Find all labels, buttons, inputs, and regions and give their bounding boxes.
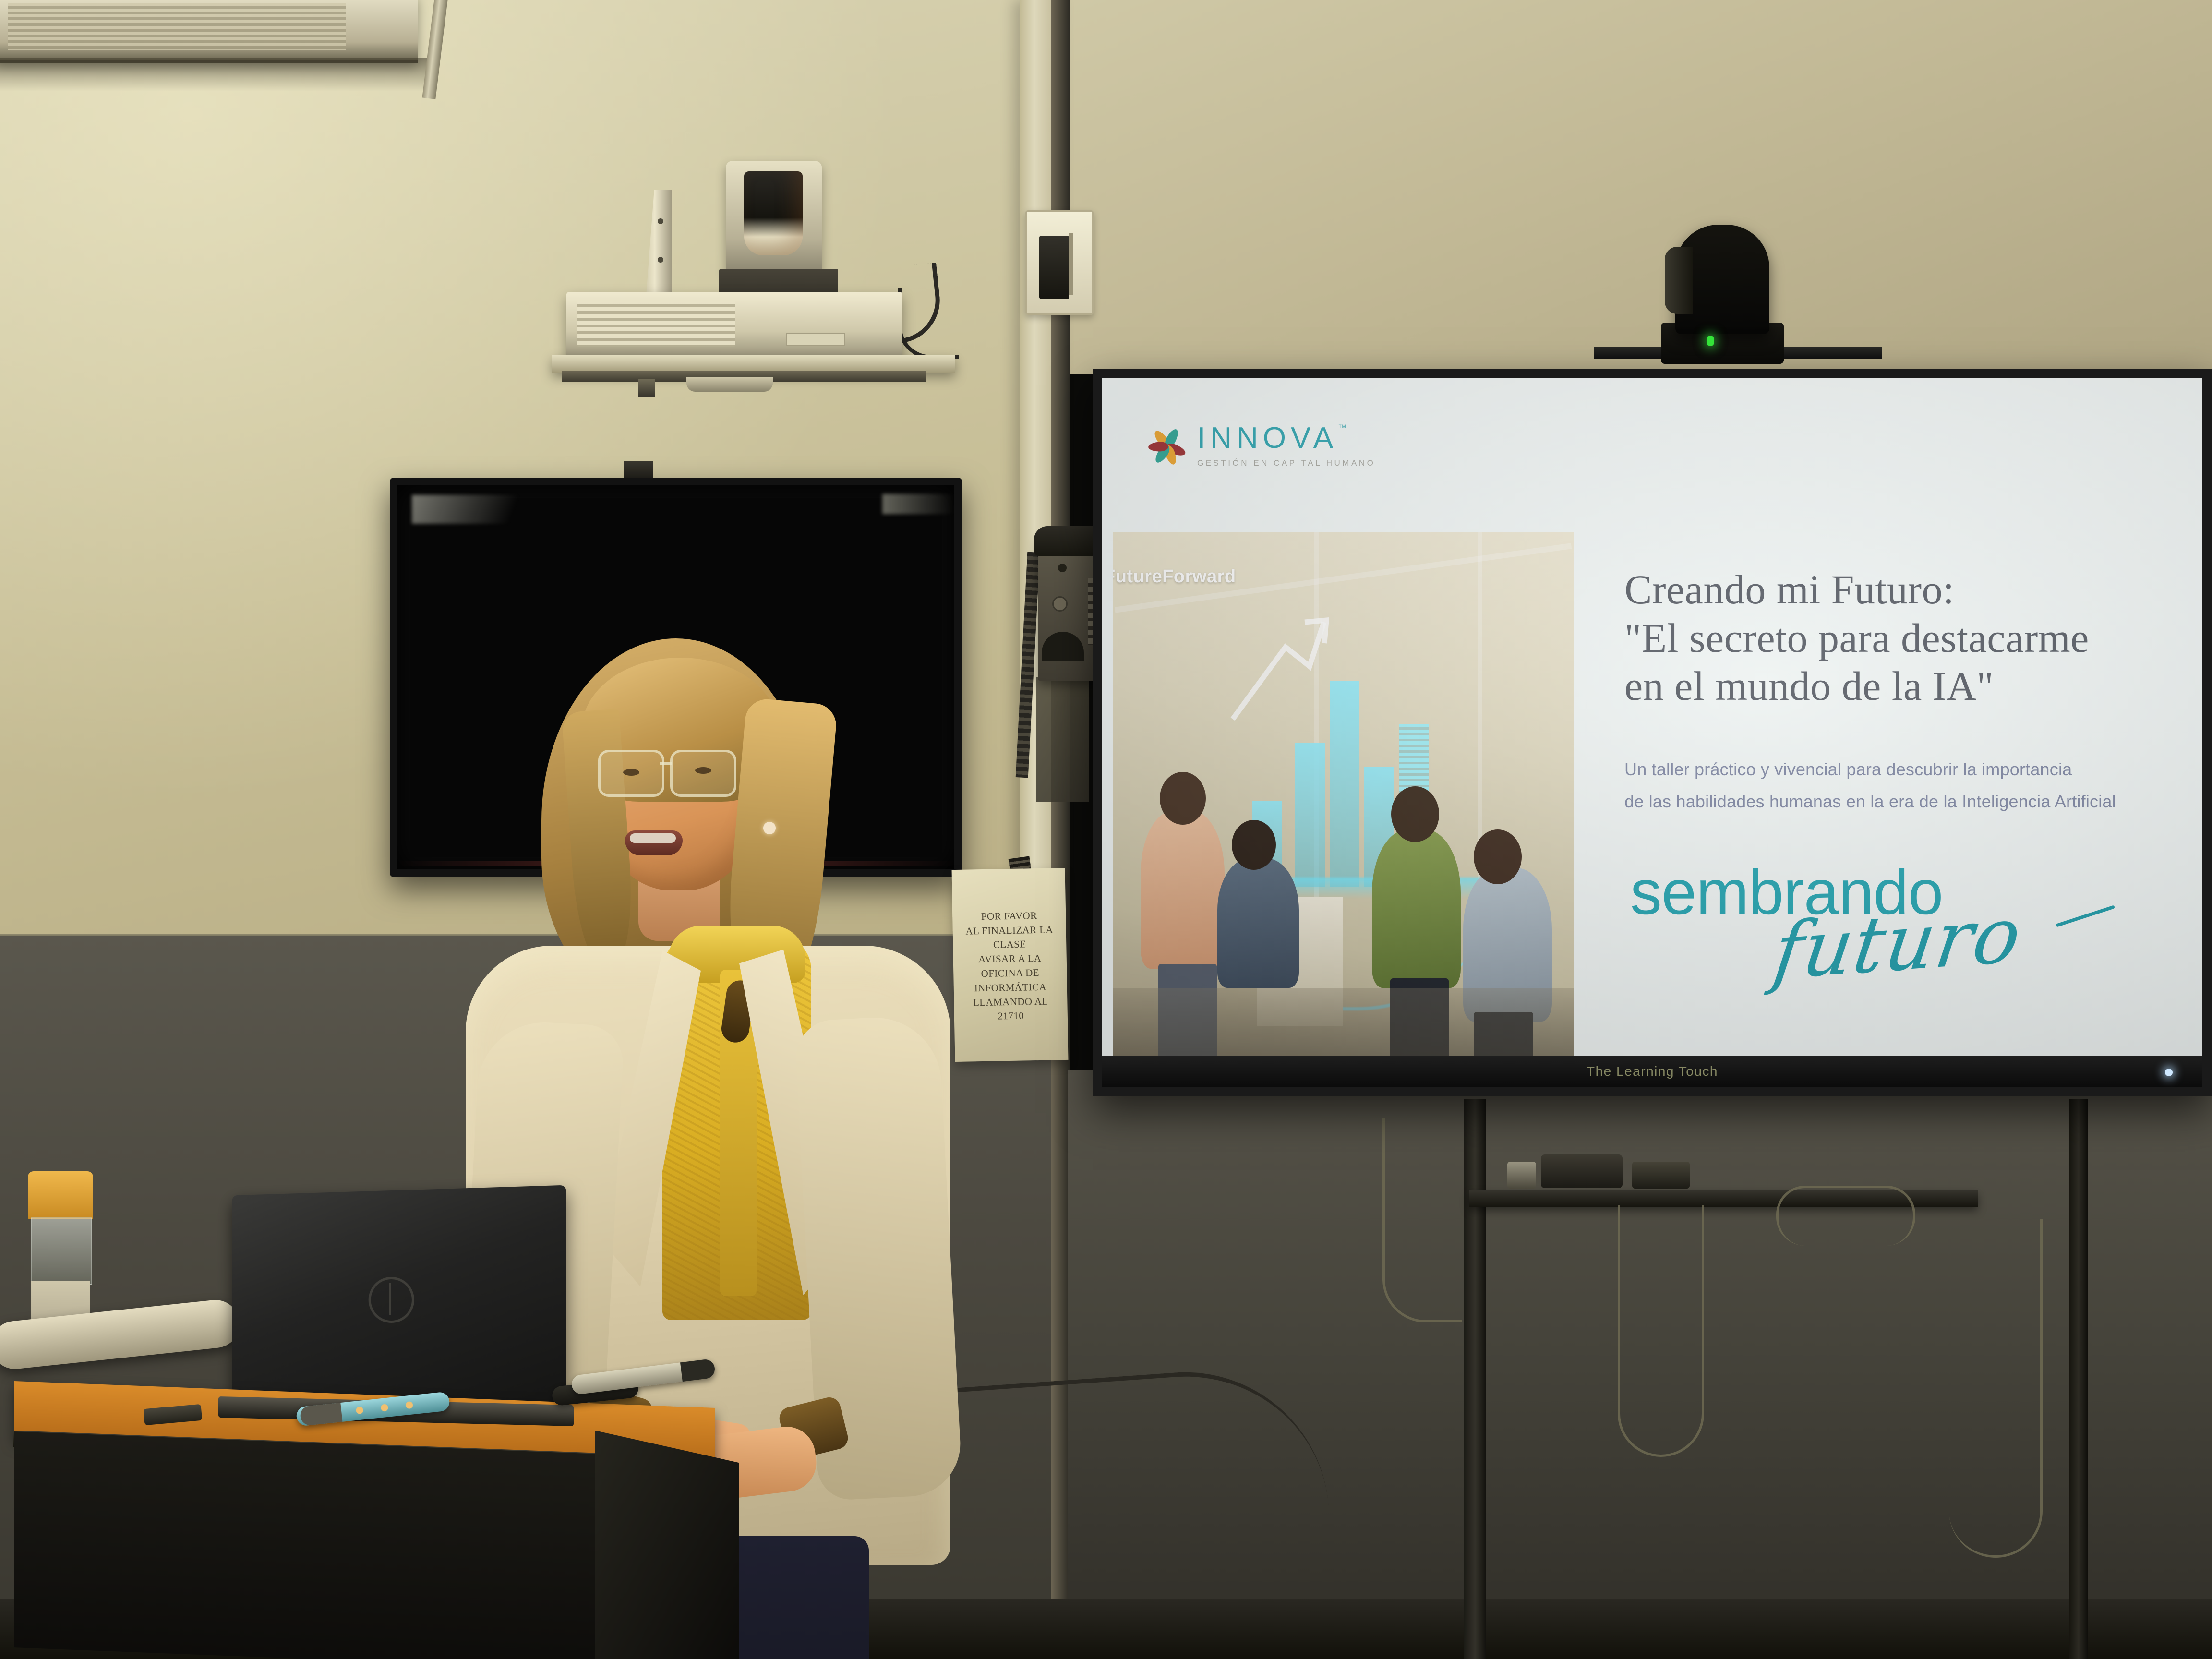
slide-title-line: en el mundo de la IA" — [1624, 662, 2202, 710]
bottle-window — [31, 1217, 92, 1285]
pinwheel-flower-icon — [1146, 425, 1187, 466]
slide-subtitle-line: de las habilidades humanas en la era de … — [1624, 786, 2202, 818]
tv-glare — [412, 495, 556, 524]
sign-line: LLAMANDO AL — [973, 994, 1048, 1010]
sembrando-futuro-logo: sembrando futuro — [1630, 861, 2202, 1005]
interactive-display[interactable]: INNOVA ™ GESTIÓN EN CAPITAL HUMANO Futur… — [1093, 369, 2212, 1096]
sign-line: POR FAVOR — [981, 909, 1037, 924]
projector-cable-secondary — [898, 288, 959, 359]
holo-arrow-icon — [1228, 613, 1334, 724]
presenter-glasses — [598, 750, 757, 794]
photo-person — [1141, 810, 1225, 969]
ceiling-speaker-unit — [726, 161, 822, 274]
outlet-socket[interactable] — [1039, 236, 1069, 299]
sign-line: AVISAR A LA — [978, 951, 1042, 967]
tv-glare-secondary — [882, 494, 954, 514]
glasses-bridge — [660, 762, 672, 765]
presenter-earring — [763, 822, 776, 834]
stand-cable — [1776, 1186, 1915, 1246]
display-bottom-bezel: The Learning Touch — [1102, 1056, 2202, 1087]
slide-photo: FutureForward — [1113, 532, 1574, 1056]
photo-person — [1372, 829, 1461, 988]
bottle-cap — [28, 1171, 93, 1219]
marker-dots — [352, 1400, 425, 1415]
ptz-camera[interactable] — [1675, 225, 1769, 334]
innova-wordmark: INNOVA ™ GESTIÓN EN CAPITAL HUMANO — [1197, 423, 1375, 467]
display-power-led — [2165, 1069, 2173, 1076]
phone-lower-body — [1036, 677, 1089, 802]
hp-logo-icon — [369, 1276, 414, 1323]
classroom-photo-scene: POR FAVOR AL FINALIZAR LA CLASE AVISAR A… — [0, 0, 2212, 1659]
ceiling-shadow — [0, 58, 432, 91]
innova-tagline: GESTIÓN EN CAPITAL HUMANO — [1197, 459, 1375, 467]
slide-title: Creando mi Futuro: "El secreto para dest… — [1624, 565, 2202, 710]
photo-person-head — [1232, 820, 1276, 870]
stand-cable — [1618, 1205, 1704, 1457]
wall-telephone[interactable] — [1038, 537, 1099, 681]
wall-outlet-plate[interactable] — [1025, 210, 1094, 315]
ceiling-ac-unit — [0, 0, 418, 63]
outlet-edge — [1069, 233, 1073, 295]
bracket-hole — [658, 257, 663, 263]
wall-notice-sign: POR FAVOR AL FINALIZAR LA CLASE AVISAR A… — [952, 868, 1069, 1062]
sembrando-strikethrough — [2056, 905, 2115, 927]
presenter-teeth — [630, 833, 676, 843]
stand-equipment-box — [1632, 1162, 1690, 1189]
petal — [1148, 441, 1169, 451]
ac-grille — [8, 3, 346, 50]
phone-cradle — [1042, 632, 1084, 661]
bracket-hole — [658, 218, 663, 224]
right-upper-wall — [1068, 0, 2212, 374]
innova-logo: INNOVA ™ GESTIÓN EN CAPITAL HUMANO — [1146, 423, 1375, 467]
projector-label — [786, 333, 845, 346]
slide-subtitle: Un taller práctico y vivencial para desc… — [1624, 754, 2202, 817]
hp-laptop[interactable] — [232, 1185, 566, 1415]
photo-person-head — [1474, 829, 1522, 884]
projector-shelf — [552, 355, 955, 373]
sign-line: AL FINALIZAR LA — [965, 923, 1053, 938]
futuro-script: futuro — [1769, 896, 2026, 991]
innova-name: INNOVA — [1197, 423, 1338, 453]
teacher-desk-side — [595, 1431, 739, 1659]
shelf-mount-disc — [686, 377, 773, 392]
sign-line: CLASE — [993, 938, 1026, 952]
sign-line: 21710 — [998, 1009, 1024, 1024]
photo-person — [1217, 858, 1299, 988]
photo-person-head — [1160, 772, 1206, 825]
speaker-face — [744, 171, 803, 255]
display-screen[interactable]: INNOVA ™ GESTIÓN EN CAPITAL HUMANO Futur… — [1102, 378, 2202, 1056]
futureforward-watermark: FutureForward — [1113, 566, 1236, 587]
shelf-bracket-leg — [638, 379, 655, 397]
ptz-status-led — [1707, 336, 1714, 346]
presenter-mouth — [625, 830, 683, 855]
presenter-eye — [623, 769, 639, 776]
ptz-camera-lens — [1665, 247, 1693, 314]
presentation-slide: INNOVA ™ GESTIÓN EN CAPITAL HUMANO Futur… — [1102, 378, 2202, 1056]
display-brand-label: The Learning Touch — [1587, 1064, 1718, 1079]
display-stand-post-left — [1464, 1099, 1486, 1659]
stand-cable — [1382, 1118, 1462, 1322]
sign-line: INFORMÁTICA — [974, 980, 1046, 995]
stand-equipment-box — [1507, 1162, 1536, 1189]
phone-dial[interactable] — [1052, 596, 1068, 612]
stand-equipment-box — [1541, 1154, 1623, 1188]
photo-floor-reflection — [1113, 988, 1574, 1056]
ceiling-projector[interactable] — [566, 292, 902, 364]
stand-cable — [1949, 1219, 2043, 1558]
slide-title-line: "El secreto para destacarme — [1624, 614, 2202, 662]
projector-vents — [577, 301, 735, 347]
holo-bar — [1330, 681, 1359, 887]
trademark-symbol: ™ — [1338, 423, 1346, 432]
photo-person-head — [1391, 786, 1439, 842]
presenter-eye — [695, 767, 711, 774]
phone-led — [1058, 564, 1067, 572]
display-stand-post-right — [2069, 1099, 2088, 1659]
slide-subtitle-line: Un taller práctico y vivencial para desc… — [1624, 754, 2202, 786]
slide-title-line: Creando mi Futuro: — [1624, 565, 2202, 614]
sign-line: OFICINA DE — [981, 966, 1039, 981]
